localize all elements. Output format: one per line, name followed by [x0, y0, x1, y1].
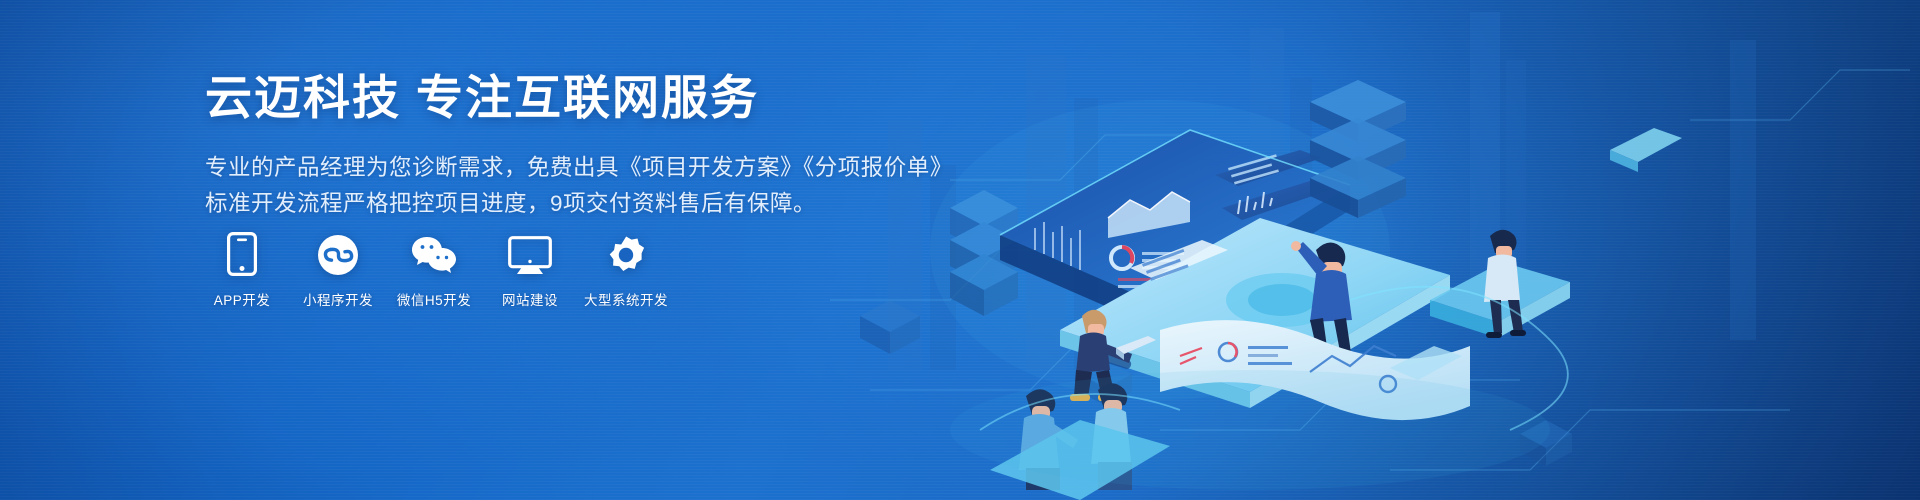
- floating-panels: [1390, 128, 1682, 380]
- wechat-icon: [411, 232, 457, 276]
- service-label: 微信H5开发: [397, 289, 471, 309]
- mini-program-icon: [317, 232, 359, 276]
- service-item-wechat-h5[interactable]: 微信H5开发: [397, 232, 471, 309]
- service-item-website[interactable]: 网站建设: [493, 232, 567, 309]
- subtitle-line-2: 标准开发流程严格把控项目进度，9项交付资料售后有保障。: [205, 186, 905, 222]
- banner-copy: 云迈科技 专注互联网服务 专业的产品经理为您诊断需求，免费出具《项目开发方案》《…: [205, 72, 905, 223]
- secondary-person: [1430, 230, 1570, 338]
- service-item-app[interactable]: APP开发: [205, 232, 279, 309]
- subtitle-line-1: 专业的产品经理为您诊断需求，免费出具《项目开发方案》《分项报价单》: [205, 150, 905, 186]
- service-label: 小程序开发: [303, 289, 373, 309]
- page-title: 云迈科技 专注互联网服务: [205, 72, 905, 124]
- gear-icon: [605, 232, 647, 276]
- promo-banner: 云迈科技 专注互联网服务 专业的产品经理为您诊断需求，免费出具《项目开发方案》《…: [0, 0, 1920, 500]
- service-item-large-system[interactable]: 大型系统开发: [589, 232, 663, 309]
- server-stack: [1310, 80, 1406, 218]
- service-item-miniprogram[interactable]: 小程序开发: [301, 232, 375, 309]
- hero-illustration: [830, 0, 1920, 500]
- service-list: APP开发 小程序开发: [205, 232, 663, 309]
- monitor-icon: [508, 232, 552, 276]
- service-label: 网站建设: [502, 289, 558, 309]
- service-label: 大型系统开发: [584, 289, 668, 309]
- service-label: APP开发: [214, 289, 271, 309]
- mobile-phone-icon: [227, 232, 257, 276]
